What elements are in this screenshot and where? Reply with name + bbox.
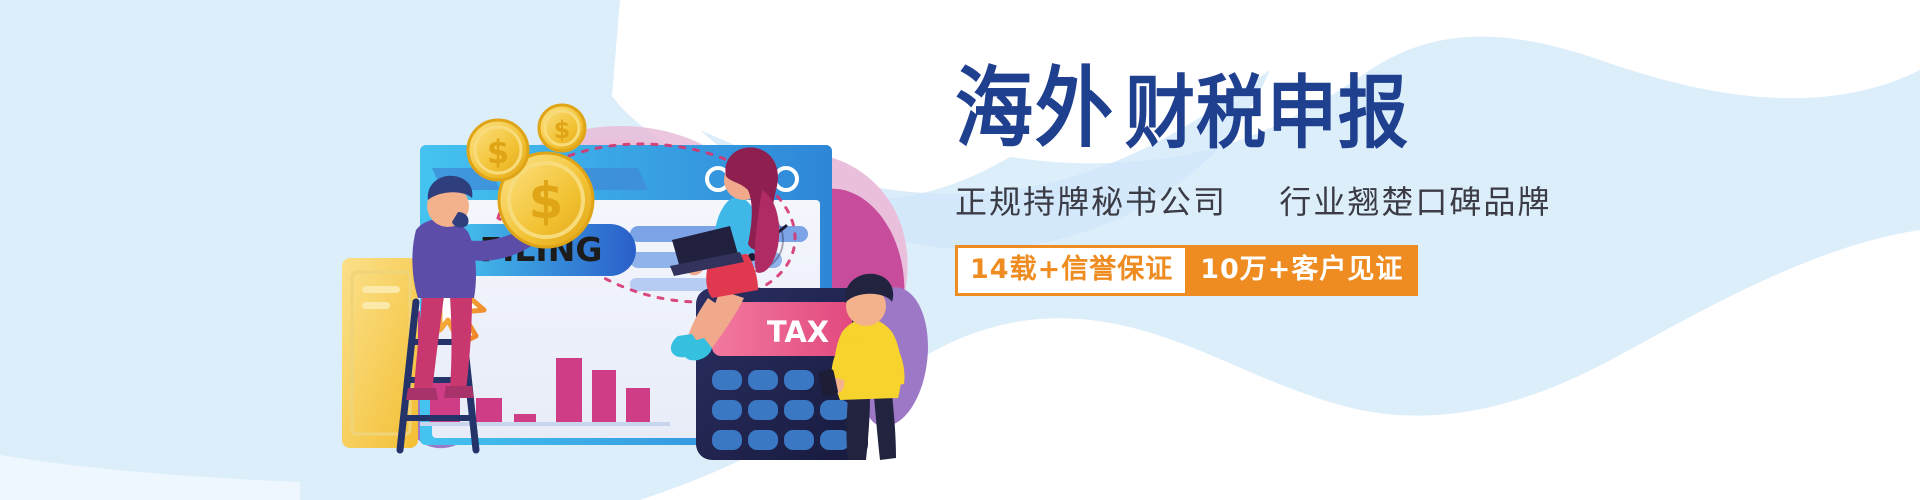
- badge-row: 14载+信誉保证 10万+客户见证: [955, 245, 1418, 296]
- headline: 海外 财税申报: [955, 75, 1695, 153]
- coin-small: $: [539, 105, 585, 151]
- tax-filing-illustration: FILING: [300, 40, 940, 460]
- coin-symbol-small: $: [554, 116, 571, 144]
- promo-banner: FILING: [0, 0, 1920, 500]
- badge-clients[interactable]: 10万+客户见证: [1185, 245, 1418, 296]
- subheadline: 正规持牌秘书公司 行业翘楚口碑品牌: [955, 177, 1695, 223]
- calculator-label: TAX: [767, 315, 829, 349]
- badge-experience[interactable]: 14载+信誉保证: [955, 245, 1185, 296]
- coin-symbol-medium: $: [487, 133, 509, 171]
- subheadline-left: 正规持牌秘书公司: [955, 183, 1227, 221]
- headline-part-two: 财税申报: [1125, 73, 1409, 153]
- headline-part-one: 海外: [955, 66, 1115, 153]
- coin-symbol-large: $: [529, 172, 564, 230]
- subheadline-right: 行业翘楚口碑品牌: [1279, 183, 1551, 221]
- headline-block: 海外 财税申报 正规持牌秘书公司 行业翘楚口碑品牌 14载+信誉保证 10万+客…: [955, 75, 1695, 296]
- coin-medium: $: [468, 120, 528, 180]
